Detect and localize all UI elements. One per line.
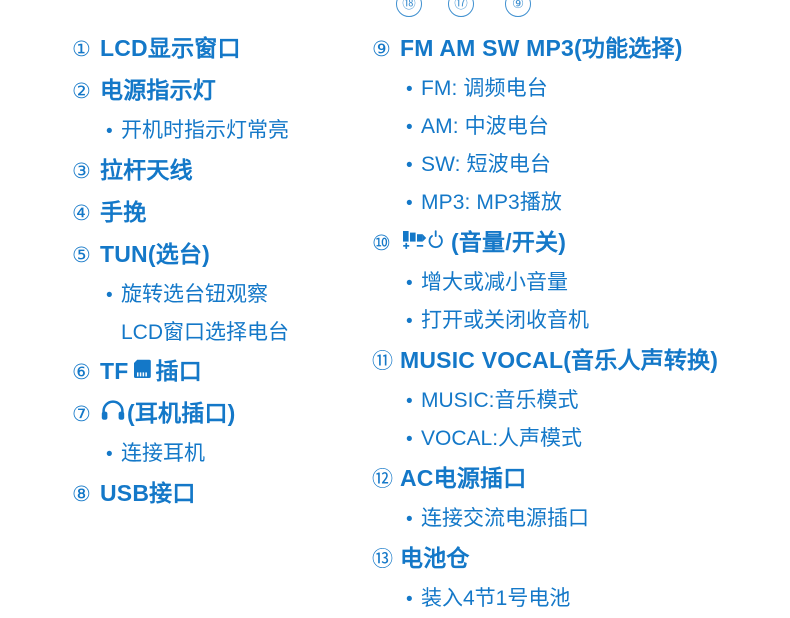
legend-item-11-title: MUSIC VOCAL(音乐人声转换) [400,340,718,380]
legend-item-9-head: ⑨ FM AM SW MP3(功能选择) [372,28,770,70]
legend-item-13-sub-1: • 装入4节1号电池 [372,580,770,618]
bullet-icon: • [106,277,121,314]
headphones-icon [101,400,125,421]
legend-item-1-number: ① [72,30,100,70]
legend-item-12-head: ⑫ AC电源插口 [372,458,770,500]
legend-item-9: ⑨ FM AM SW MP3(功能选择) • FM: 调频电台 • AM: 中波… [372,28,770,222]
legend-item-5-sub-1: • 旋转选台钮观察 [72,276,372,314]
legend-item-13-sub-1-text: 装入4节1号电池 [421,580,570,617]
legend-item-5-sub-1-text: 旋转选台钮观察 [121,276,268,313]
legend-item-10-sub-2: • 打开或关闭收音机 [372,302,770,340]
legend-item-1: ① LCD显示窗口 [72,28,372,70]
legend-item-3-title: 拉杆天线 [100,150,193,190]
feature-legend: ① LCD显示窗口 ② 电源指示灯 • 开机时指示灯常亮 ③ 拉杆天线 [0,28,790,618]
volume-bars [403,231,426,242]
legend-item-10-title-suffix: (音量/开关) [451,222,566,262]
legend-item-3-number: ③ [72,152,100,192]
tf-card-icon [133,359,152,379]
legend-item-10-sub-1: • 增大或减小音量 [372,264,770,302]
legend-item-5-number: ⑤ [72,236,100,276]
legend-item-3-head: ③ 拉杆天线 [72,150,372,192]
legend-item-9-sub-2: • AM: 中波电台 [372,108,770,146]
legend-item-12-sub-1-text: 连接交流电源插口 [421,500,589,537]
legend-item-3: ③ 拉杆天线 [72,150,372,192]
legend-item-6-title: TF 插口 [100,351,202,391]
legend-item-13-number: ⑬ [372,540,400,580]
legend-item-4-title: 手挽 [100,192,146,232]
bullet-icon: • [406,501,421,538]
legend-item-9-sub-1-text: FM: 调频电台 [421,70,548,107]
legend-item-12-sub-1: • 连接交流电源插口 [372,500,770,538]
legend-item-2-head: ② 电源指示灯 [72,70,372,112]
legend-item-11-head: ⑪ MUSIC VOCAL(音乐人声转换) [372,340,770,382]
legend-item-7: ⑦ (耳机插口) • 连接耳机 [72,393,372,473]
legend-item-11-sub-2: • VOCAL:人声模式 [372,420,770,458]
volume-minus-icon [417,245,423,247]
bullet-icon: • [406,147,421,184]
bullet-icon: • [406,109,421,146]
legend-item-9-sub-2-text: AM: 中波电台 [421,108,549,145]
legend-item-10-sub-2-text: 打开或关闭收音机 [421,302,589,339]
legend-item-7-head: ⑦ (耳机插口) [72,393,372,435]
legend-item-8: ⑧ USB接口 [72,473,372,515]
legend-item-2-sub-1: • 开机时指示灯常亮 [72,112,372,150]
bullet-icon: • [406,421,421,458]
bullet-icon: • [406,383,421,420]
legend-item-13: ⑬ 电池仓 • 装入4节1号电池 [372,538,770,618]
legend-item-13-title: 电池仓 [400,538,470,578]
legend-item-5-head: ⑤ TUN(选台) [72,234,372,276]
legend-item-9-number: ⑨ [372,30,400,70]
legend-item-4: ④ 手挽 [72,192,372,234]
legend-item-7-sub-1: • 连接耳机 [72,435,372,473]
legend-item-8-title: USB接口 [100,473,196,513]
legend-item-1-head: ① LCD显示窗口 [72,28,372,70]
legend-item-9-sub-4: • MP3: MP3播放 [372,184,770,222]
diagram-callout-11: ⑱ [396,0,422,17]
bullet-icon: • [406,265,421,302]
legend-item-11-sub-1-text: MUSIC:音乐模式 [421,382,579,419]
volume-power-icon [402,229,446,250]
legend-item-2-title: 电源指示灯 [100,70,216,110]
legend-item-6-title-prefix: TF [100,351,129,391]
legend-item-6: ⑥ TF 插口 [72,351,372,393]
legend-item-10-title: (音量/开关) [400,222,566,262]
bullet-icon: • [406,71,421,108]
legend-item-9-sub-3-text: SW: 短波电台 [421,146,551,183]
legend-item-11: ⑪ MUSIC VOCAL(音乐人声转换) • MUSIC:音乐模式 • VOC… [372,340,770,458]
legend-item-7-title: (耳机插口) [100,393,236,433]
legend-item-5-sub-1-continuation-text: LCD窗口选择电台 [121,314,289,351]
bullet-icon: • [406,185,421,222]
bullet-icon: • [406,581,421,618]
diagram-callout-9: ⑨ [505,0,531,17]
legend-item-4-number: ④ [72,194,100,234]
legend-item-11-sub-2-text: VOCAL:人声模式 [421,420,582,457]
legend-item-10-head: ⑩ [372,222,770,264]
legend-item-11-number: ⑪ [372,342,400,382]
bullet-icon: • [106,436,121,473]
legend-column-left: ① LCD显示窗口 ② 电源指示灯 • 开机时指示灯常亮 ③ 拉杆天线 [72,28,372,515]
legend-item-6-head: ⑥ TF 插口 [72,351,372,393]
diagram-callout-strip: ⑱ ⑰ ⑨ [0,0,790,20]
legend-item-11-sub-1: • MUSIC:音乐模式 [372,382,770,420]
legend-item-5: ⑤ TUN(选台) • 旋转选台钮观察 LCD窗口选择电台 [72,234,372,351]
legend-item-5-title: TUN(选台) [100,234,210,274]
legend-item-2-sub-1-text: 开机时指示灯常亮 [121,112,289,149]
legend-item-9-sub-3: • SW: 短波电台 [372,146,770,184]
power-icon [430,230,442,247]
legend-column-right: ⑨ FM AM SW MP3(功能选择) • FM: 调频电台 • AM: 中波… [372,28,770,618]
legend-item-7-title-suffix: (耳机插口) [127,393,236,433]
legend-item-12-title: AC电源插口 [400,458,526,498]
bullet-icon: • [406,303,421,340]
volume-plus-icon [403,243,409,249]
legend-item-9-sub-4-text: MP3: MP3播放 [421,184,562,221]
legend-item-8-number: ⑧ [72,475,100,515]
legend-item-1-title: LCD显示窗口 [100,28,241,68]
legend-item-8-head: ⑧ USB接口 [72,473,372,515]
legend-item-2: ② 电源指示灯 • 开机时指示灯常亮 [72,70,372,150]
legend-item-10-number: ⑩ [372,224,400,264]
legend-item-4-head: ④ 手挽 [72,192,372,234]
bullet-icon: • [106,113,121,150]
legend-item-7-sub-1-text: 连接耳机 [121,435,205,472]
legend-item-6-number: ⑥ [72,353,100,393]
legend-item-7-number: ⑦ [72,395,100,435]
legend-item-6-title-suffix: 插口 [156,351,202,391]
legend-item-13-head: ⑬ 电池仓 [372,538,770,580]
legend-item-2-number: ② [72,72,100,112]
diagram-callout-10: ⑰ [448,0,474,17]
legend-item-9-sub-1: • FM: 调频电台 [372,70,770,108]
legend-item-9-title: FM AM SW MP3(功能选择) [400,28,683,68]
legend-item-12: ⑫ AC电源插口 • 连接交流电源插口 [372,458,770,538]
legend-item-12-number: ⑫ [372,460,400,500]
legend-item-10: ⑩ [372,222,770,340]
legend-item-10-sub-1-text: 增大或减小音量 [421,264,568,301]
legend-item-5-sub-1-continuation: LCD窗口选择电台 [72,314,372,351]
